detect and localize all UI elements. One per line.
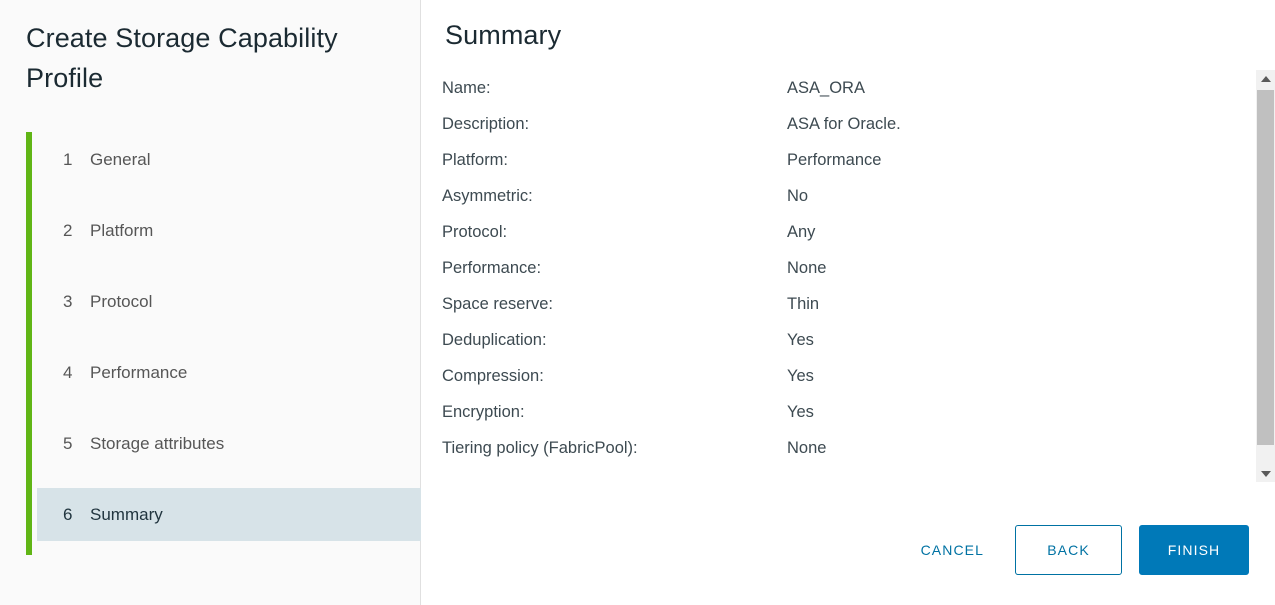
- sidebar-step-protocol[interactable]: 3Protocol: [37, 275, 421, 328]
- summary-row-value: Performance: [787, 142, 1242, 178]
- summary-row-label: Performance:: [442, 250, 787, 286]
- summary-row-label: Tiering policy (FabricPool):: [442, 430, 787, 466]
- step-number: 2: [63, 221, 80, 241]
- step-label: Platform: [90, 221, 153, 241]
- summary-row-label: Platform:: [442, 142, 787, 178]
- wizard-title: Create Storage Capability Profile: [26, 18, 366, 98]
- wizard-footer: Cancel Back Finish: [907, 525, 1249, 575]
- summary-row-value: None: [787, 250, 1242, 286]
- sidebar-step-storage-attributes[interactable]: 5Storage attributes: [37, 417, 421, 470]
- summary-row-label: Asymmetric:: [442, 178, 787, 214]
- create-storage-capability-profile-wizard: Create Storage Capability Profile 1Gener…: [0, 0, 1275, 605]
- sidebar-step-general[interactable]: 1General: [37, 133, 421, 186]
- sidebar-step-performance[interactable]: 4Performance: [37, 346, 421, 399]
- step-label: Storage attributes: [90, 434, 224, 454]
- summary-row: Encryption:Yes: [442, 394, 1242, 430]
- summary-row: Platform:Performance: [442, 142, 1242, 178]
- scrollbar-thumb[interactable]: [1257, 90, 1274, 445]
- step-label: Performance: [90, 363, 187, 383]
- summary-row: Tiering policy (FabricPool):None: [442, 430, 1242, 466]
- step-label: Summary: [90, 505, 163, 525]
- summary-row-label: Compression:: [442, 358, 787, 394]
- summary-row-value: Yes: [787, 394, 1242, 430]
- step-label: Protocol: [90, 292, 152, 312]
- triangle-down-icon: [1261, 471, 1271, 477]
- step-number: 1: [63, 150, 80, 170]
- summary-row: Asymmetric:No: [442, 178, 1242, 214]
- summary-row-label: Protocol:: [442, 214, 787, 250]
- summary-row-value: ASA for Oracle.: [787, 106, 1242, 142]
- summary-row-label: Deduplication:: [442, 322, 787, 358]
- summary-row-value: ASA_ORA: [787, 70, 1242, 106]
- summary-row-value: Thin: [787, 286, 1242, 322]
- scroll-up-button[interactable]: [1256, 70, 1275, 87]
- summary-table: Name:ASA_ORADescription:ASA for Oracle.P…: [442, 70, 1242, 466]
- summary-row-value: Yes: [787, 322, 1242, 358]
- summary-row: Space reserve:Thin: [442, 286, 1242, 322]
- summary-row-label: Encryption:: [442, 394, 787, 430]
- summary-row: Protocol:Any: [442, 214, 1242, 250]
- cancel-button[interactable]: Cancel: [907, 525, 998, 575]
- step-label: General: [90, 150, 150, 170]
- summary-row-label: Description:: [442, 106, 787, 142]
- summary-row: Deduplication:Yes: [442, 322, 1242, 358]
- back-button[interactable]: Back: [1015, 525, 1122, 575]
- scroll-down-button[interactable]: [1256, 465, 1275, 482]
- summary-row-value: Any: [787, 214, 1242, 250]
- wizard-sidebar: Create Storage Capability Profile 1Gener…: [0, 0, 421, 605]
- finish-button[interactable]: Finish: [1139, 525, 1249, 575]
- step-number: 3: [63, 292, 80, 312]
- summary-row: Description:ASA for Oracle.: [442, 106, 1242, 142]
- summary-row-label: Name:: [442, 70, 787, 106]
- summary-row: Performance:None: [442, 250, 1242, 286]
- wizard-content: Summary Name:ASA_ORADescription:ASA for …: [421, 0, 1275, 605]
- summary-scroll-area[interactable]: Name:ASA_ORADescription:ASA for Oracle.P…: [421, 70, 1251, 490]
- triangle-up-icon: [1261, 76, 1271, 82]
- summary-row-value: No: [787, 178, 1242, 214]
- step-number: 4: [63, 363, 80, 383]
- sidebar-step-platform[interactable]: 2Platform: [37, 204, 421, 257]
- wizard-step-list: 1General2Platform3Protocol4Performance5S…: [37, 133, 421, 559]
- summary-row: Name:ASA_ORA: [442, 70, 1242, 106]
- summary-row-label: Space reserve:: [442, 286, 787, 322]
- step-number: 6: [63, 505, 80, 525]
- summary-row: Compression:Yes: [442, 358, 1242, 394]
- wizard-progress-rail: [26, 132, 32, 555]
- sidebar-step-summary[interactable]: 6Summary: [37, 488, 421, 541]
- summary-row-value: Yes: [787, 358, 1242, 394]
- page-title: Summary: [445, 20, 561, 51]
- summary-row-value: None: [787, 430, 1242, 466]
- vertical-scrollbar[interactable]: [1256, 70, 1275, 482]
- step-number: 5: [63, 434, 80, 454]
